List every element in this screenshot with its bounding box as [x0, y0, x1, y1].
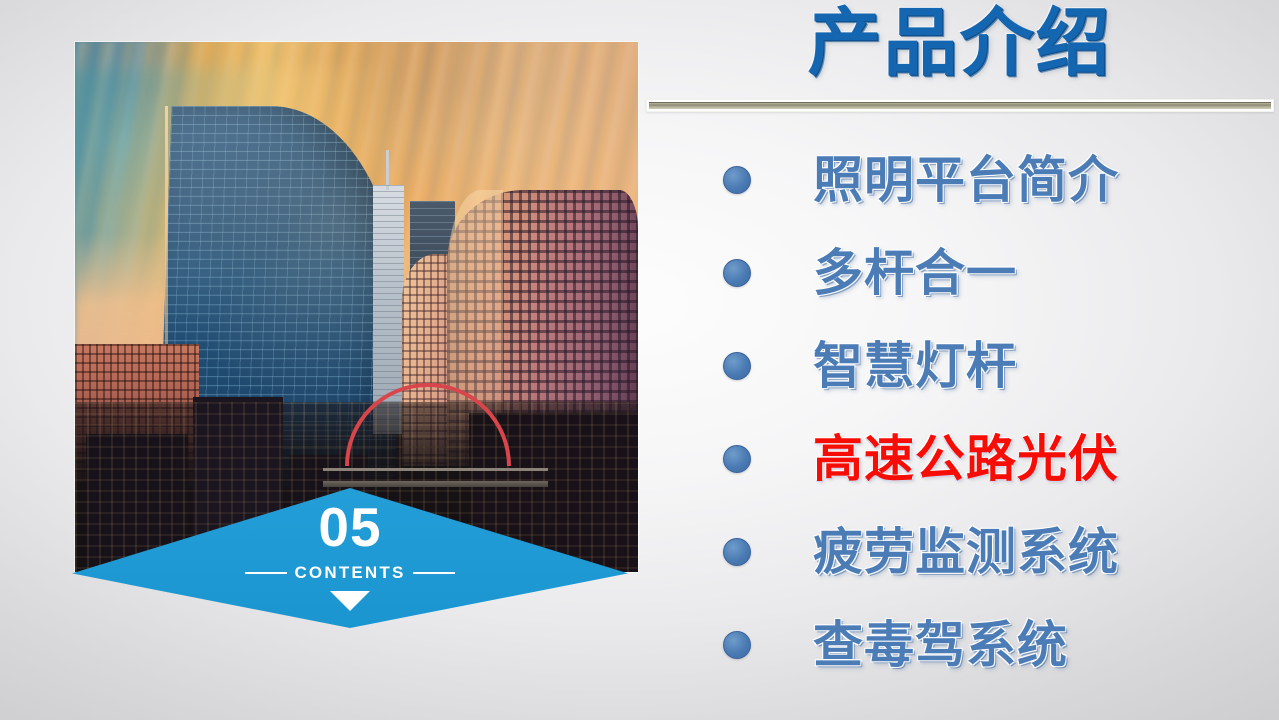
caret-down-icon [330, 591, 370, 611]
list-item[interactable]: 照明平台简介 [640, 133, 1279, 226]
page-title: 产品介绍 [640, 2, 1279, 85]
list-item[interactable]: 智慧灯杆 [640, 319, 1279, 412]
bullet-dot-icon [723, 259, 751, 287]
presentation-slide: 05 CONTENTS 产品介绍 照明平台简介 多杆合一 [0, 0, 1279, 720]
list-item-label: 照明平台简介 [813, 155, 1119, 205]
bullet-dot-icon [723, 631, 751, 659]
list-item[interactable]: 疲劳监测系统 [640, 505, 1279, 598]
contents-rule-right [413, 572, 455, 574]
list-item-label: 查毒驾系统 [813, 620, 1068, 670]
bullet-dot-icon [723, 445, 751, 473]
agenda-list: 照明平台简介 多杆合一 智慧灯杆 高速公路光伏 疲劳监测系统 查毒驾系统 [640, 133, 1279, 691]
list-item-highlighted[interactable]: 高速公路光伏 [640, 412, 1279, 505]
bullet-dot-icon [723, 538, 751, 566]
bullet-dot-icon [723, 352, 751, 380]
list-item-label: 多杆合一 [813, 248, 1017, 298]
bridge-deck-upper [323, 468, 548, 471]
list-item[interactable]: 多杆合一 [640, 226, 1279, 319]
list-item-label: 智慧灯杆 [813, 341, 1017, 391]
list-item[interactable]: 查毒驾系统 [640, 598, 1279, 691]
bullet-dot-icon [723, 166, 751, 194]
list-item-label: 疲劳监测系统 [813, 527, 1119, 577]
contents-rule-left [245, 572, 287, 574]
list-item-label: 高速公路光伏 [813, 434, 1119, 484]
bridge-deck-lower [323, 481, 548, 487]
content-panel: 产品介绍 照明平台简介 多杆合一 智慧灯杆 高速公路光伏 [640, 0, 1279, 720]
city-skyline-photo [75, 42, 638, 572]
photo-canvas [75, 42, 638, 572]
title-divider [646, 99, 1274, 112]
title-divider-bar [649, 102, 1271, 109]
